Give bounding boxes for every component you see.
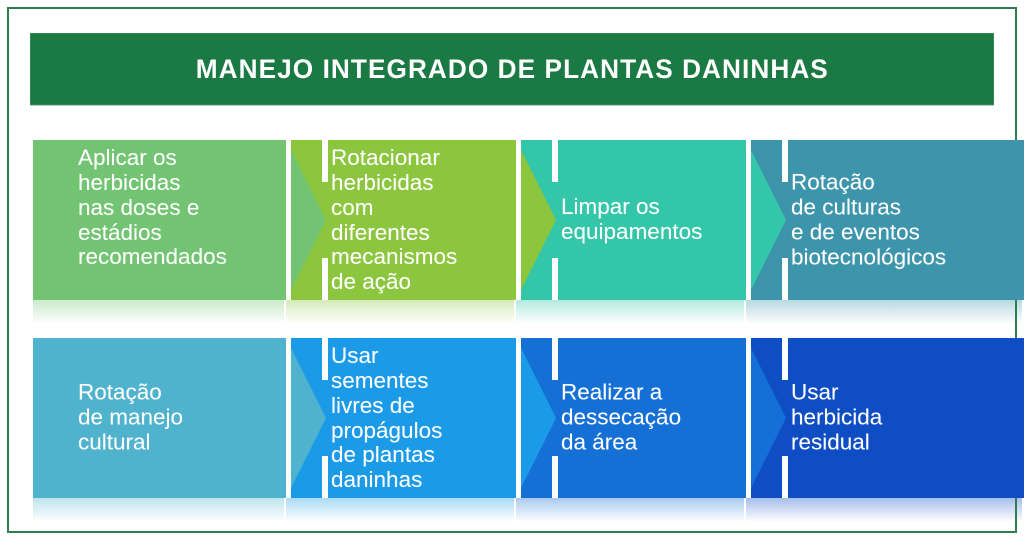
chevron-arrow-tip <box>286 338 326 498</box>
process-step-5-label: Rotação de manejo cultural <box>78 381 274 456</box>
page-title: MANEJO INTEGRADO DE PLANTAS DANINHAS <box>195 54 828 85</box>
process-row-2: Rotação de manejo culturalUsar sementes … <box>33 338 1024 498</box>
chevron-tick-6-2 <box>552 456 558 498</box>
chevron-arrow-tip <box>516 140 556 300</box>
chevron-tick-5-2 <box>322 456 328 498</box>
title-banner: MANEJO INTEGRADO DE PLANTAS DANINHAS <box>30 33 994 105</box>
chevron-tick-3-1 <box>782 140 788 182</box>
process-step-2-label: Rotacionar herbicidas com diferentes mec… <box>331 146 504 295</box>
row-2-reflection <box>33 496 973 522</box>
chevron-arrow-tip <box>286 140 326 300</box>
infographic-canvas: MANEJO INTEGRADO DE PLANTAS DANINHAS Apl… <box>0 0 1024 540</box>
process-row-1: Aplicar os herbicidas nas doses e estádi… <box>33 140 1024 300</box>
process-step-5[interactable]: Rotação de manejo cultural <box>33 338 326 498</box>
chevron-arrow-tip <box>516 338 556 498</box>
chevron-arrow-tip <box>746 140 786 300</box>
step-reflection <box>33 496 284 522</box>
step-reflection <box>33 298 284 324</box>
step-reflection <box>286 298 514 324</box>
process-step-1-label: Aplicar os herbicidas nas doses e estádi… <box>78 146 274 270</box>
chevron-arrow-tip <box>746 338 786 498</box>
row-1-reflection <box>33 298 973 324</box>
step-reflection <box>286 496 514 522</box>
process-step-6-label: Usar sementes livres de propágulos de pl… <box>331 344 504 493</box>
step-reflection <box>516 496 744 522</box>
chevron-tick-7-1 <box>782 338 788 380</box>
process-step-3-label: Limpar os equipamentos <box>561 195 734 245</box>
chevron-tick-5-1 <box>322 338 328 380</box>
step-reflection <box>746 496 1022 522</box>
chevron-tick-1-2 <box>322 258 328 300</box>
chevron-tick-6-1 <box>552 338 558 380</box>
chevron-tick-2-1 <box>552 140 558 182</box>
process-step-4-label: Rotação de culturas e de eventos biotecn… <box>791 170 1012 269</box>
chevron-tick-2-2 <box>552 258 558 300</box>
process-step-7-label: Realizar a dessecação da área <box>561 381 734 456</box>
process-step-8-label: Usar herbicida residual <box>791 381 1012 456</box>
step-reflection <box>516 298 744 324</box>
step-reflection <box>746 298 1022 324</box>
chevron-tick-3-2 <box>782 258 788 300</box>
process-step-1[interactable]: Aplicar os herbicidas nas doses e estádi… <box>33 140 326 300</box>
chevron-tick-1-1 <box>322 140 328 182</box>
chevron-tick-7-2 <box>782 456 788 498</box>
